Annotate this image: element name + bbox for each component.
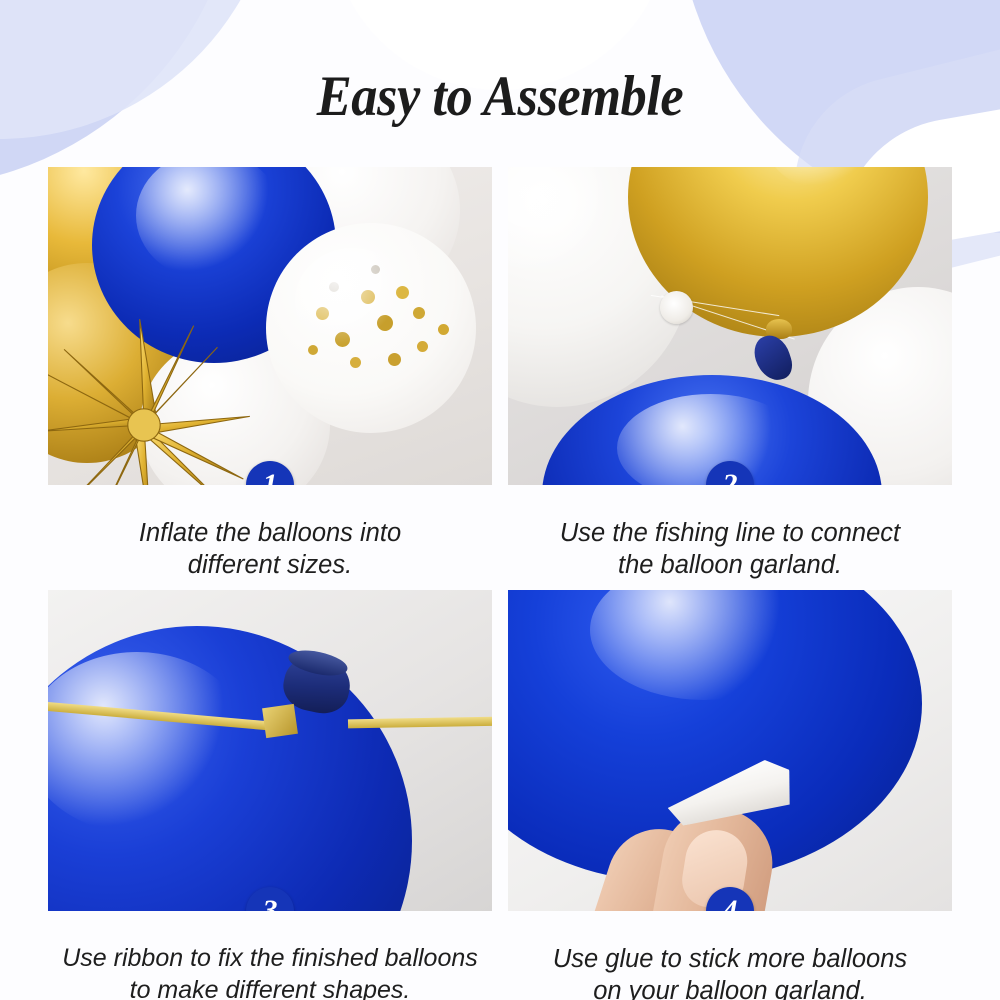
gold-starburst-icon <box>48 317 252 485</box>
step-caption-1: Inflate the balloons into different size… <box>48 517 492 581</box>
confetti-balloon <box>266 223 476 433</box>
step-caption-2: Use the fishing line to connect the ball… <box>508 517 952 581</box>
step-photo-4: 4 <box>508 590 952 911</box>
page-title: Easy to Assemble <box>40 64 960 129</box>
balloon-clip-icon <box>660 291 693 324</box>
infographic-root: Easy to Assemble <box>0 0 1000 1000</box>
step-caption-4: Use glue to stick more balloons on your … <box>508 943 952 1000</box>
step-card-3: 3 Use ribbon to fix the finished balloon… <box>48 590 492 1000</box>
step-card-4: 4 Use glue to stick more balloons on you… <box>508 590 952 1000</box>
step-photo-2: 2 <box>508 167 952 485</box>
gold-ribbon <box>348 717 492 729</box>
step-photo-3: 3 <box>48 590 492 911</box>
step-card-2: 2 Use the fishing line to connect the ba… <box>508 167 952 581</box>
step-caption-3: Use ribbon to fix the finished balloons … <box>48 943 492 1000</box>
step-card-1: 1 Inflate the balloons into different si… <box>48 167 492 581</box>
step-photo-1: 1 <box>48 167 492 485</box>
blue-balloon <box>48 626 412 911</box>
blue-balloon-knot <box>750 331 797 385</box>
steps-grid: 1 Inflate the balloons into different si… <box>48 167 952 1000</box>
ribbon-knot <box>262 704 298 738</box>
